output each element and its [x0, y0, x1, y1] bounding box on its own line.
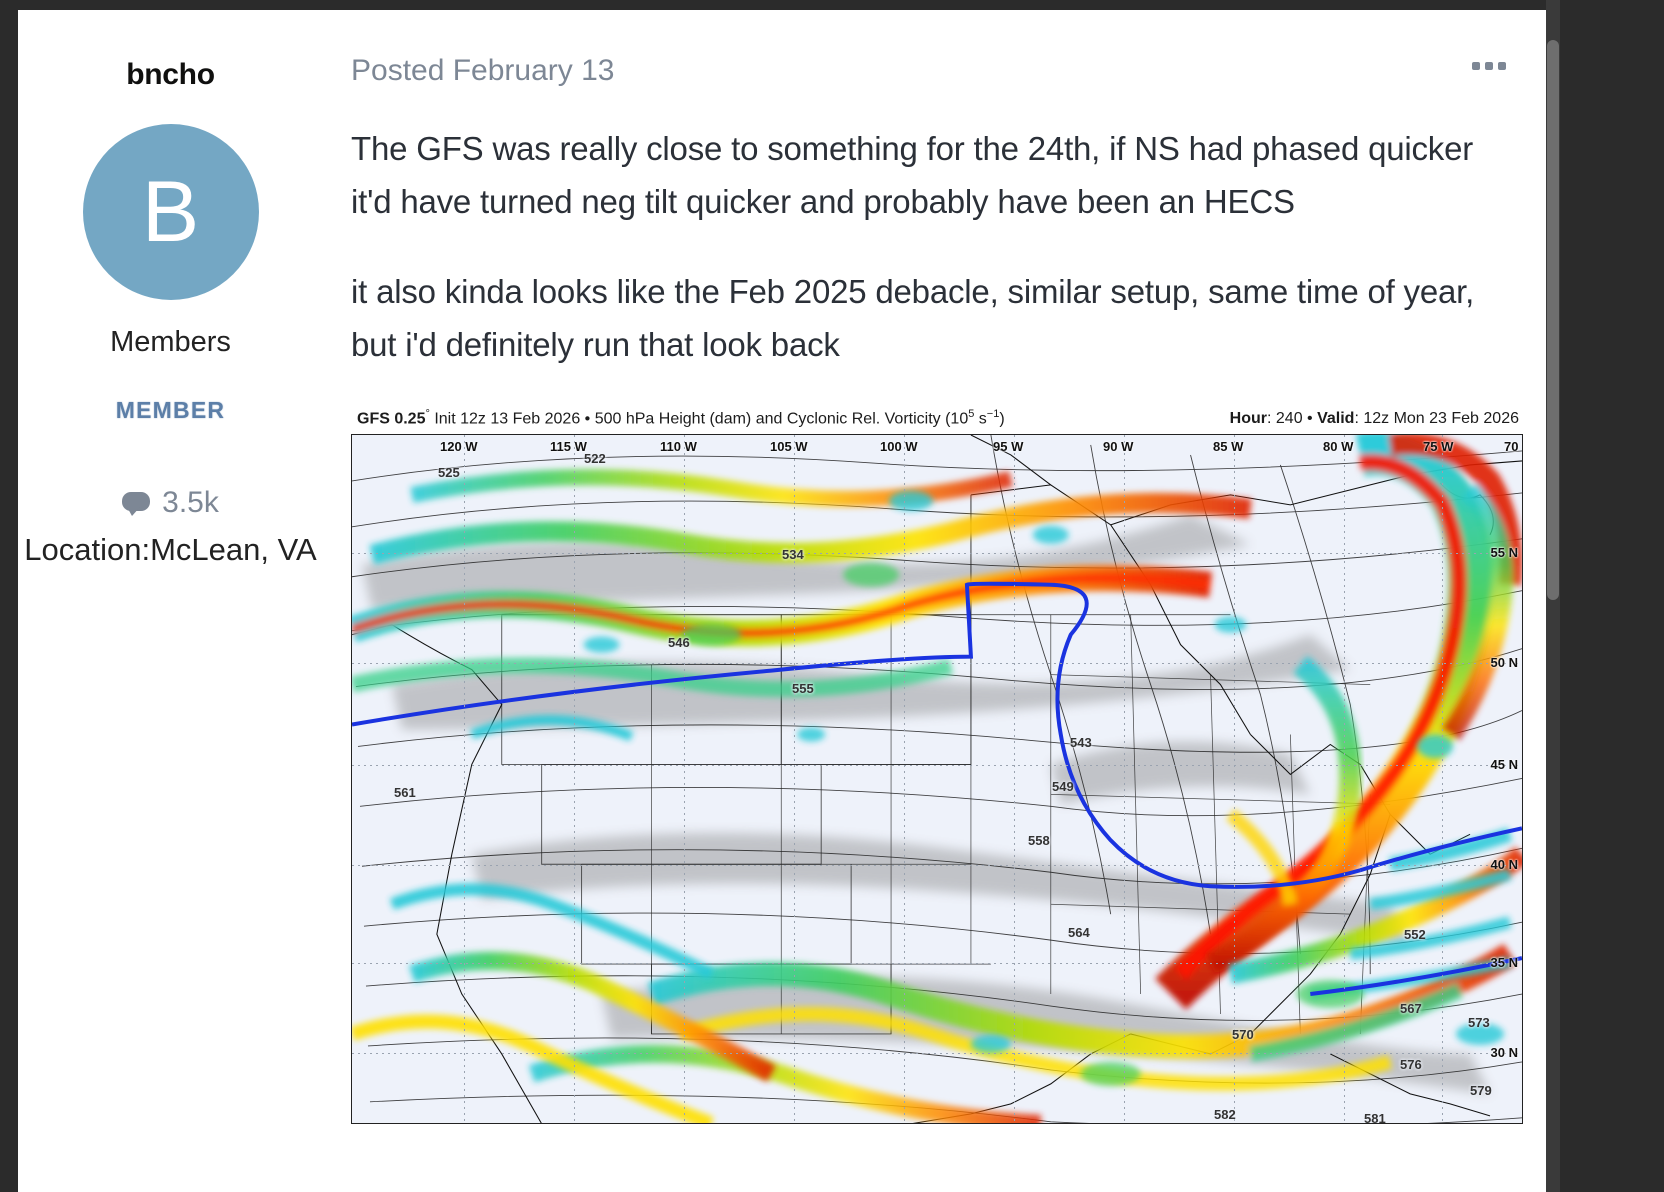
grat-lat-30n [352, 1053, 1522, 1054]
chart-exponent-neg1: −1 [987, 408, 1000, 420]
grat-lon-95w [1014, 435, 1015, 1123]
hlabel-5: 561 [394, 785, 416, 800]
hlabel-13: 576 [1400, 1057, 1422, 1072]
post-page: bncho B Members MEMBER 3.5k Location:McL… [18, 10, 1546, 1192]
chart-hour-value: : 240 • [1267, 410, 1317, 427]
grat-lon-80w [1344, 435, 1345, 1123]
grat-lon-100w [904, 435, 905, 1123]
chart-units-s: s [974, 410, 986, 427]
grat-lon-85w [1234, 435, 1235, 1123]
lat-tick-5: 30 N [1491, 1045, 1518, 1060]
author-group-label: Members [18, 326, 323, 359]
hlabel-11: 570 [1232, 1027, 1254, 1042]
member-rank-badge: MEMBER [18, 397, 323, 424]
author-post-count: 3.5k [18, 486, 323, 520]
grat-lon-105w [794, 435, 795, 1123]
chart-model-name: GFS 0.25 [357, 410, 425, 427]
hlabel-8: 558 [1028, 833, 1050, 848]
chart-init-text: Init 12z 13 Feb 2026 • 500 hPa Height (d… [430, 410, 968, 427]
lat-tick-4: 35 N [1491, 955, 1518, 970]
chart-hour-label: Hour [1230, 410, 1267, 427]
hlabel-0: 525 [438, 465, 460, 480]
ellipsis-icon-dot1 [1472, 62, 1480, 70]
author-sidebar: bncho B Members MEMBER 3.5k Location:McL… [18, 10, 323, 1192]
post-content: Posted February 13 The GFS was really cl… [323, 10, 1546, 1192]
grat-lon-75w [1442, 435, 1443, 1123]
post-body: The GFS was really close to something fo… [351, 122, 1510, 372]
ellipsis-icon-dot3 [1498, 62, 1506, 70]
lon-tick-9: 75 W [1423, 439, 1453, 454]
hlabel-9: 564 [1068, 925, 1090, 940]
author-location: Location:McLean, VA [18, 528, 323, 573]
lat-tick-3: 40 N [1491, 857, 1518, 872]
hlabel-6: 543 [1070, 735, 1092, 750]
lon-tick-0: 120 W [440, 439, 478, 454]
grat-lat-50n [352, 663, 1522, 664]
ellipsis-icon-dot2 [1485, 62, 1493, 70]
chart-valid-value: : 12z Mon 23 Feb 2026 [1354, 410, 1519, 427]
lat-tick-1: 50 N [1491, 655, 1518, 670]
hlabel-17: 582 [1214, 1107, 1236, 1122]
lon-tick-8: 80 W [1323, 439, 1353, 454]
lat-tick-0: 55 N [1491, 545, 1518, 560]
hlabel-15: 552 [1404, 927, 1426, 942]
hlabel-10: 567 [1400, 1001, 1422, 1016]
chart-title-right: Hour: 240 • Valid: 12z Mon 23 Feb 2026 [1230, 410, 1519, 428]
hlabel-12: 573 [1468, 1015, 1490, 1030]
hlabel-1: 522 [584, 451, 606, 466]
lon-tick-2: 110 W [660, 439, 697, 454]
page-gutter-right [1546, 0, 1664, 1192]
author-username[interactable]: bncho [18, 58, 323, 92]
lon-tick-7: 85 W [1213, 439, 1243, 454]
grat-lat-55n [352, 553, 1522, 554]
hlabel-4: 555 [792, 681, 814, 696]
model-map[interactable]: 120 W 115 W 110 W 105 W 100 W 95 W 90 W … [351, 434, 1523, 1124]
grat-lon-90w [1124, 435, 1125, 1123]
grat-lat-35n [352, 963, 1522, 964]
vorticity-map-canvas [352, 435, 1522, 1124]
chart-valid-label: Valid [1317, 410, 1354, 427]
post-date: Posted February 13 [351, 54, 614, 88]
lon-tick-6: 90 W [1103, 439, 1133, 454]
post-paragraph-1: The GFS was really close to something fo… [351, 122, 1510, 229]
hlabel-7: 549 [1052, 779, 1074, 794]
hlabel-14: 579 [1470, 1083, 1492, 1098]
lon-tick-3: 105 W [770, 439, 808, 454]
chart-paren-close: ) [999, 410, 1004, 427]
hlabel-16: 581 [1364, 1111, 1386, 1124]
lon-tick-4: 100 W [880, 439, 918, 454]
page-gutter-left [0, 0, 18, 1192]
lon-tick-10: 70 W [1504, 439, 1523, 454]
post-count-value: 3.5k [162, 486, 219, 520]
chart-titlebar: GFS 0.25° Init 12z 13 Feb 2026 • 500 hPa… [351, 408, 1523, 434]
chart-title-left: GFS 0.25° Init 12z 13 Feb 2026 • 500 hPa… [357, 408, 1005, 428]
post-header: Posted February 13 [351, 54, 1510, 88]
weather-model-figure[interactable]: GFS 0.25° Init 12z 13 Feb 2026 • 500 hPa… [351, 408, 1523, 1124]
avatar-initial: B [142, 169, 199, 255]
grat-lat-45n [352, 765, 1522, 766]
lat-tick-2: 45 N [1491, 757, 1518, 772]
lon-tick-1: 115 W [550, 439, 587, 454]
speech-bubble-icon [122, 492, 150, 514]
grat-lon-115w [574, 435, 575, 1123]
lon-tick-5: 95 W [993, 439, 1023, 454]
page-scrollbar-thumb[interactable] [1547, 40, 1559, 600]
grat-lat-40n [352, 865, 1522, 866]
window-top-chrome [18, 0, 1546, 10]
avatar[interactable]: B [83, 124, 259, 300]
post-paragraph-2: it also kinda looks like the Feb 2025 de… [351, 265, 1510, 372]
grat-lon-110w [684, 435, 685, 1123]
hlabel-2: 534 [782, 547, 804, 562]
grat-lon-120w [464, 435, 465, 1123]
post-options-button[interactable] [1468, 54, 1510, 78]
hlabel-3: 546 [668, 635, 690, 650]
